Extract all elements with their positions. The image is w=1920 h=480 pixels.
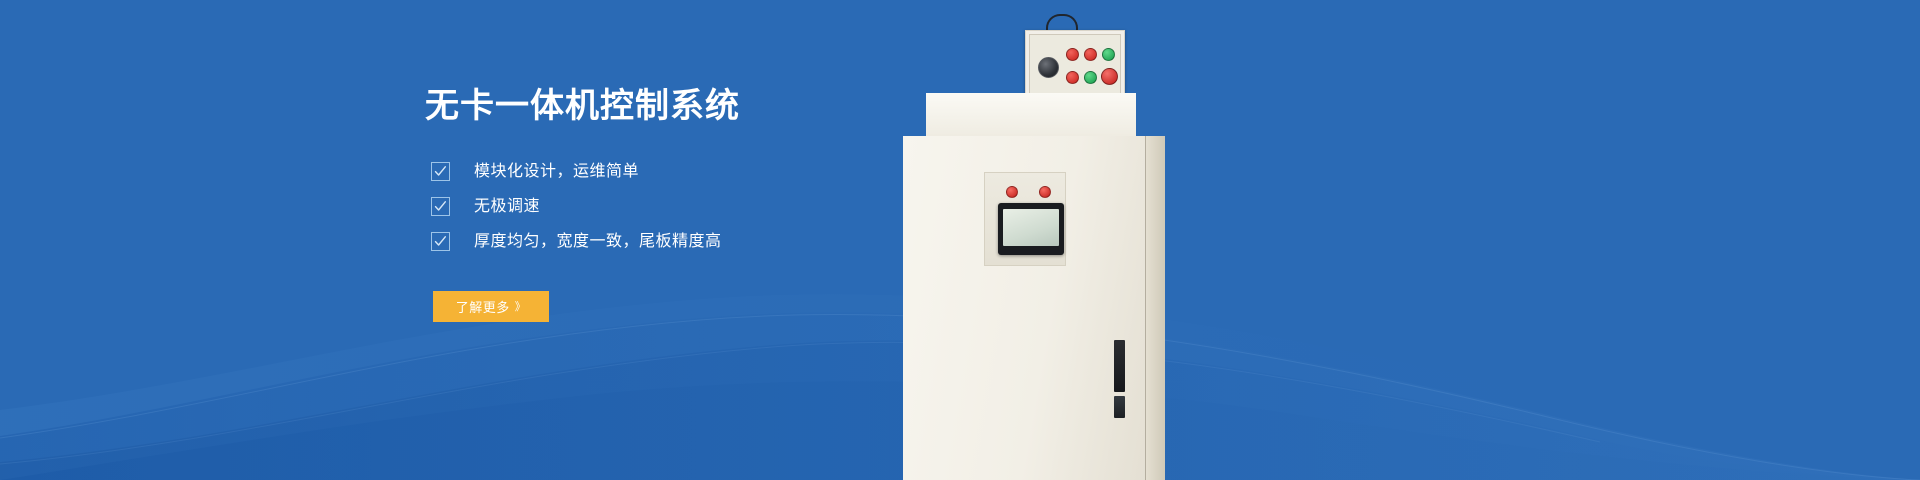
learn-more-button[interactable]: 了解更多 》 xyxy=(433,291,549,322)
screen-glass xyxy=(1003,209,1059,246)
feature-label: 厚度均匀，宽度一致，尾板精度高 xyxy=(474,232,722,252)
feature-label: 无极调速 xyxy=(474,197,540,217)
cabinet-vent-slot xyxy=(1114,396,1125,418)
cabinet-right-edge xyxy=(1145,136,1165,480)
hero-banner: 无卡一体机控制系统 模块化设计，运维简单 无极调速 xyxy=(0,0,1920,480)
page-title: 无卡一体机控制系统 xyxy=(425,86,945,127)
red-button[interactable] xyxy=(1066,71,1079,84)
selector-knob[interactable] xyxy=(1038,57,1059,78)
top-control-panel xyxy=(1025,30,1125,100)
checkbox-check-icon xyxy=(431,232,450,251)
feature-label: 模块化设计，运维简单 xyxy=(474,162,639,182)
red-lamp xyxy=(1006,186,1018,198)
checkbox-check-icon xyxy=(431,197,450,216)
learn-more-label: 了解更多 xyxy=(456,297,510,316)
chevron-right-icon: 》 xyxy=(515,298,527,314)
red-button[interactable] xyxy=(1066,48,1079,61)
green-button[interactable] xyxy=(1084,71,1097,84)
list-item: 模块化设计，运维简单 xyxy=(431,161,945,183)
red-lamp xyxy=(1039,186,1051,198)
list-item: 无极调速 xyxy=(431,196,945,218)
feature-list: 模块化设计，运维简单 无极调速 厚度均匀，宽度一致，尾板精度高 xyxy=(431,161,945,253)
hero-content: 无卡一体机控制系统 模块化设计，运维简单 无极调速 xyxy=(425,86,945,322)
checkbox-check-icon xyxy=(431,162,450,181)
cabinet-top-cover xyxy=(926,93,1136,136)
red-button[interactable] xyxy=(1101,68,1118,85)
green-button[interactable] xyxy=(1102,48,1115,61)
red-button[interactable] xyxy=(1084,48,1097,61)
panel-inner-face xyxy=(1029,34,1121,96)
cabinet-door-seam xyxy=(1145,136,1146,480)
list-item: 厚度均匀，宽度一致，尾板精度高 xyxy=(431,231,945,253)
cabinet-vent-slot xyxy=(1114,340,1125,392)
hmi-touch-screen[interactable] xyxy=(998,203,1064,255)
